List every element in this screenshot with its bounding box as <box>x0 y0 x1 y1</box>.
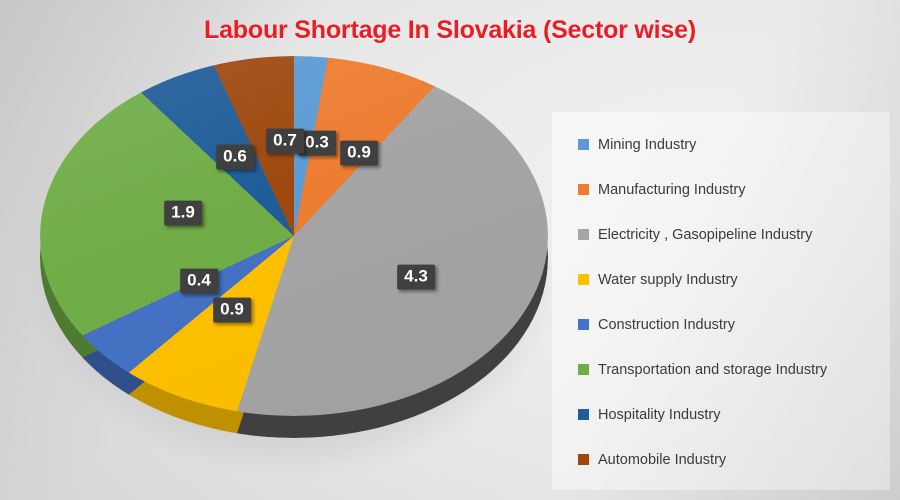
legend-item[interactable]: Mining Industry <box>578 122 894 167</box>
pie-slices[interactable] <box>40 56 548 416</box>
legend-item-label: Hospitality Industry <box>598 407 721 423</box>
legend-item-label: Automobile Industry <box>598 452 726 468</box>
page-title: Labour Shortage In Slovakia (Sector wise… <box>0 16 900 45</box>
data-label: 0.9 <box>213 298 251 323</box>
legend-item-label: Water supply Industry <box>598 272 738 288</box>
pie-chart <box>30 48 560 468</box>
legend-item[interactable]: Manufacturing Industry <box>578 167 894 212</box>
legend-item-label: Construction Industry <box>598 317 735 333</box>
legend-item[interactable]: Automobile Industry <box>578 437 894 482</box>
legend-swatch-icon <box>578 454 589 465</box>
legend-swatch-icon <box>578 274 589 285</box>
data-label: 1.9 <box>164 201 202 226</box>
pie-top-face <box>40 56 548 416</box>
legend-swatch-icon <box>578 229 589 240</box>
data-label: 0.4 <box>180 269 218 294</box>
legend-item[interactable]: Construction Industry <box>578 302 894 347</box>
legend-item[interactable]: Electricity , Gasopipeline Industry <box>578 212 894 257</box>
data-label: 4.3 <box>397 265 435 290</box>
data-label: 0.9 <box>340 141 378 166</box>
legend-item-label: Electricity , Gasopipeline Industry <box>598 227 812 243</box>
legend-swatch-icon <box>578 184 589 195</box>
legend-swatch-icon <box>578 409 589 420</box>
legend-item-label: Mining Industry <box>598 137 696 153</box>
legend-item-label: Manufacturing Industry <box>598 182 746 198</box>
chart-legend: Mining IndustryManufacturing IndustryEle… <box>578 122 894 482</box>
legend-item[interactable]: Hospitality Industry <box>578 392 894 437</box>
legend-swatch-icon <box>578 364 589 375</box>
chart-slide: Labour Shortage In Slovakia (Sector wise… <box>0 0 900 500</box>
data-label: 0.6 <box>216 145 254 170</box>
legend-item[interactable]: Transportation and storage Industry <box>578 347 894 392</box>
legend-swatch-icon <box>578 319 589 330</box>
legend-swatch-icon <box>578 139 589 150</box>
legend-item[interactable]: Water supply Industry <box>578 257 894 302</box>
legend-item-label: Transportation and storage Industry <box>598 362 827 378</box>
data-label: 0.7 <box>266 129 304 154</box>
